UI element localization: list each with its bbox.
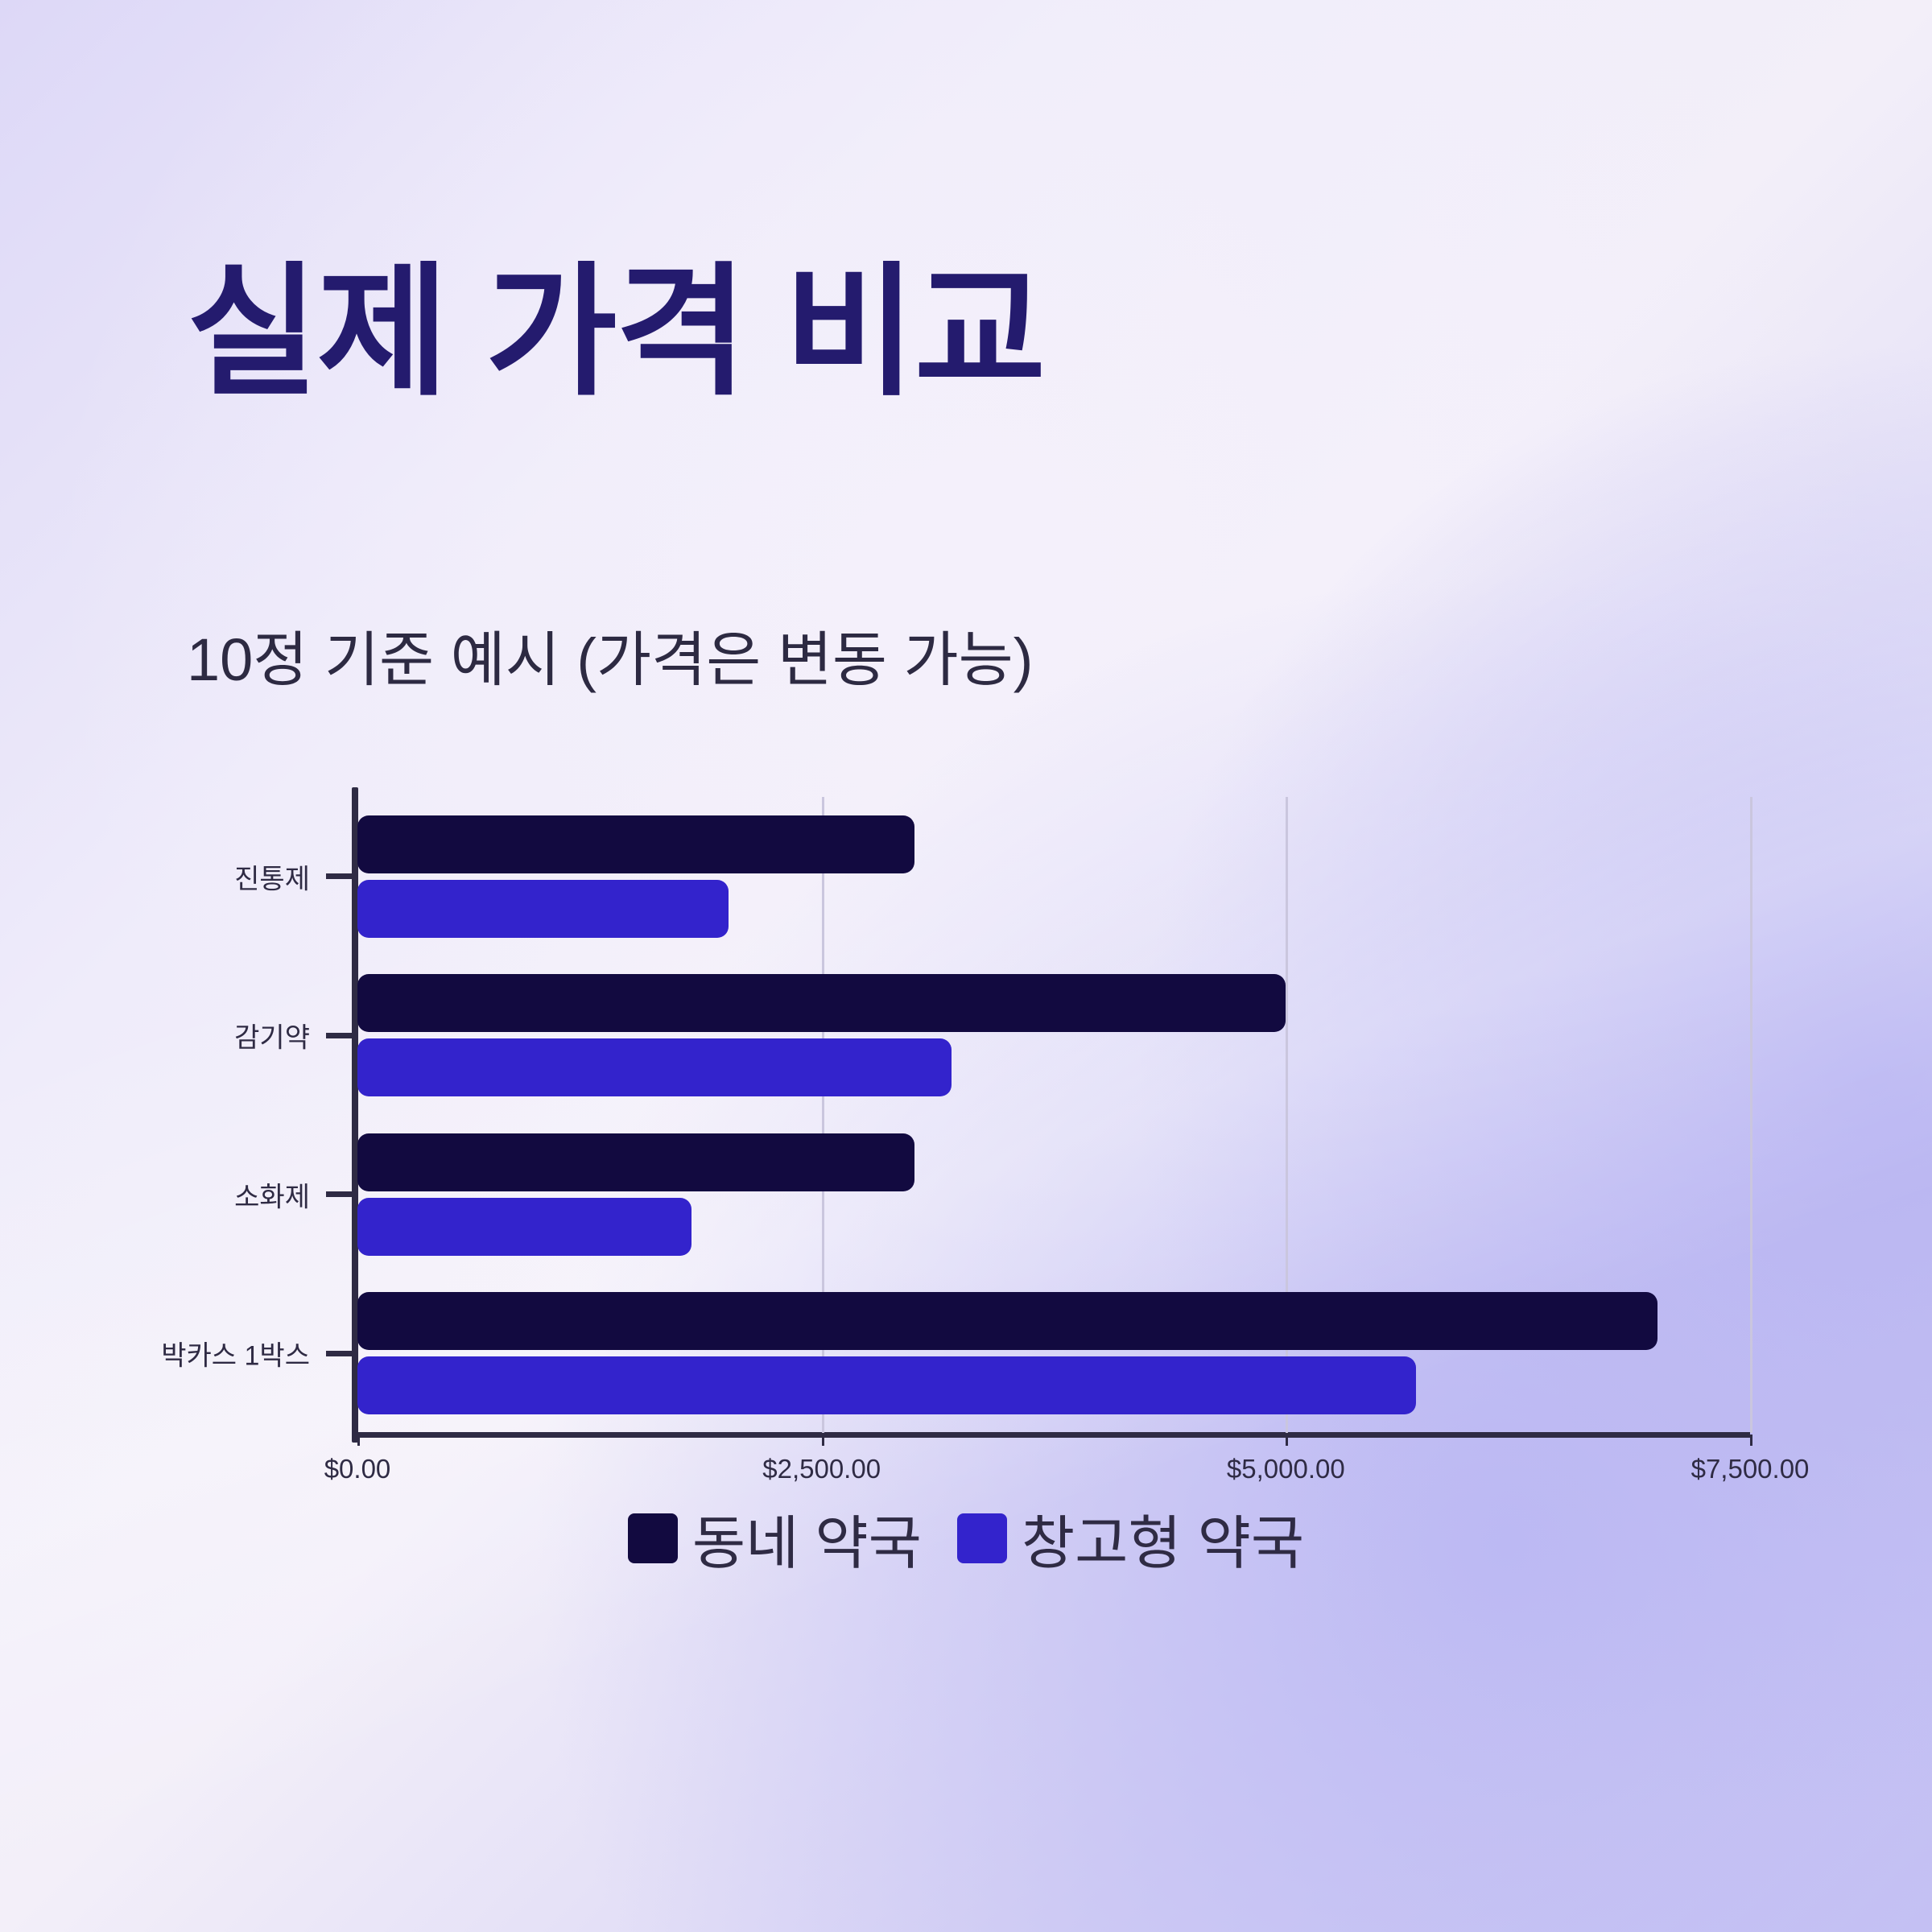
x-axis-tick-labels: $0.00$2,500.00$5,000.00$7,500.00 <box>357 1439 1750 1488</box>
category-label: 박카스 1박스 <box>161 1334 310 1373</box>
y-axis-tick <box>326 1351 353 1356</box>
bar-소화제-창고형 약국[interactable] <box>357 1198 691 1256</box>
y-axis-tick <box>326 1033 353 1038</box>
bar-소화제-동네 약국[interactable] <box>357 1133 914 1191</box>
x-axis-tick <box>1286 1435 1288 1446</box>
x-axis-tick-label: $2,500.00 <box>762 1454 881 1484</box>
x-axis-tick-label: $0.00 <box>324 1454 391 1484</box>
y-axis-line <box>352 787 358 1443</box>
y-axis-tick <box>326 873 353 879</box>
legend-item-동네 약국[interactable]: 동네 약국 <box>628 1496 922 1580</box>
x-axis-tick-label: $5,000.00 <box>1227 1454 1345 1484</box>
category-label: 진통제 <box>234 857 310 896</box>
x-axis-tick <box>822 1435 824 1446</box>
x-axis-line <box>352 1432 1750 1438</box>
x-axis-tick <box>1750 1435 1752 1446</box>
x-axis-tick-label: $7,500.00 <box>1691 1454 1810 1484</box>
chart-container: 진통제감기약소화제박카스 1박스 $0.00$2,500.00$5,000.00… <box>0 0 1932 1932</box>
y-axis-tick <box>326 1191 353 1197</box>
bar-진통제-동네 약국[interactable] <box>357 815 914 873</box>
legend-item-창고형 약국[interactable]: 창고형 약국 <box>957 1496 1304 1580</box>
bar-박카스 1박스-동네 약국[interactable] <box>357 1292 1657 1350</box>
bar-박카스 1박스-창고형 약국[interactable] <box>357 1356 1416 1414</box>
bar-진통제-창고형 약국[interactable] <box>357 880 729 938</box>
x-axis-tick <box>357 1435 360 1446</box>
legend-label: 동네 약국 <box>692 1496 922 1580</box>
bar-감기약-창고형 약국[interactable] <box>357 1038 952 1096</box>
chart-legend: 동네 약국창고형 약국 <box>0 1496 1932 1580</box>
category-label: 소화제 <box>234 1174 310 1214</box>
plot-area: 진통제감기약소화제박카스 1박스 <box>357 797 1750 1433</box>
gridline <box>1750 797 1752 1433</box>
category-label: 감기약 <box>234 1016 310 1055</box>
legend-swatch-icon <box>628 1513 678 1563</box>
bar-감기약-동네 약국[interactable] <box>357 974 1286 1032</box>
legend-swatch-icon <box>957 1513 1007 1563</box>
legend-label: 창고형 약국 <box>1022 1496 1304 1580</box>
